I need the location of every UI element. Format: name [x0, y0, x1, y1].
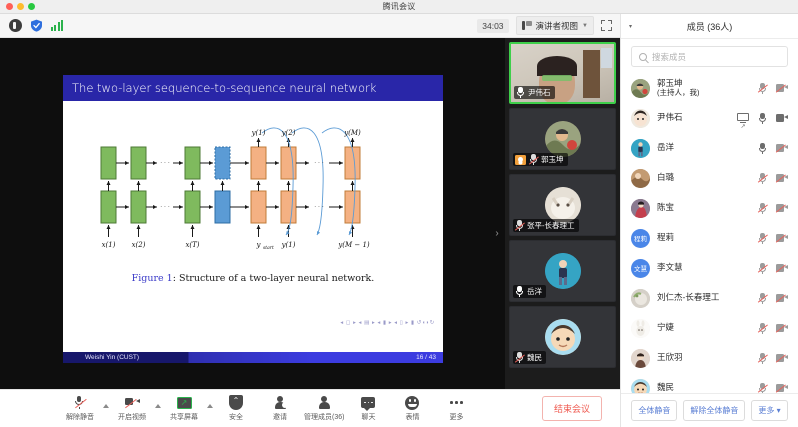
- list-item[interactable]: 刘仁杰-长春理工: [621, 283, 798, 313]
- avatar: [631, 349, 650, 368]
- camera-off-icon: [125, 395, 140, 410]
- avatar: [545, 319, 581, 355]
- person-add-icon: +: [274, 395, 287, 410]
- unmute-label: 解除静音: [66, 412, 94, 422]
- participant-name: 程莉: [657, 233, 751, 243]
- mic-muted-icon: [529, 154, 538, 165]
- start-video-label: 开启视频: [118, 412, 146, 422]
- mic-on-icon: [516, 87, 525, 98]
- more-label: 更多: [449, 412, 463, 422]
- svg-text:x(2): x(2): [132, 241, 146, 249]
- mic-muted-icon[interactable]: [758, 353, 767, 364]
- mic-muted-icon: [75, 395, 86, 410]
- camera-off-icon[interactable]: [776, 234, 788, 243]
- meeting-controls-toolbar: 解除静音 开启视频 共享屏幕 安全 + 邀请: [0, 389, 620, 427]
- mic-muted-icon[interactable]: [758, 323, 767, 334]
- slide-author: Weishi Yin (CUST): [63, 354, 139, 361]
- tencent-meeting-window: 腾讯会议 34:03 演讲者视图 ▼ The two-l: [0, 0, 798, 427]
- tile-name: 张平-长春理工: [527, 220, 575, 231]
- list-item[interactable]: 郭玉坤 (主持人，我): [621, 73, 798, 103]
- mic-muted-icon[interactable]: [758, 263, 767, 274]
- participant-display-name: 白璐: [657, 172, 674, 182]
- panel-footer: 全体静音 解除全体静音 更多 ▾: [621, 393, 798, 427]
- participant-display-name: 魏民: [657, 382, 674, 392]
- camera-off-icon[interactable]: [776, 84, 788, 93]
- video-tile[interactable]: 尹伟石: [509, 42, 616, 104]
- list-item[interactable]: 文慧 李文慧: [621, 253, 798, 283]
- svg-text:y: y: [256, 241, 262, 249]
- neural-network-diagram: x(1) x(2) x(T) y start y(1) y(M − 1) y(1…: [81, 127, 425, 252]
- camera-off-icon[interactable]: [776, 294, 788, 303]
- participant-name: 李文慧: [657, 263, 751, 273]
- avatar: 程莉: [631, 229, 650, 248]
- security-button[interactable]: 安全: [214, 395, 258, 422]
- fullscreen-icon[interactable]: [601, 20, 612, 31]
- search-container: [621, 39, 798, 73]
- more-button[interactable]: 更多: [434, 395, 478, 422]
- svg-text:· · ·: · · ·: [160, 160, 170, 167]
- list-item[interactable]: 尹伟石: [621, 103, 798, 133]
- avatar: 文慧: [631, 259, 650, 278]
- list-item[interactable]: 陈宝: [621, 193, 798, 223]
- mic-muted-icon: [515, 220, 524, 231]
- avatar: [631, 379, 650, 394]
- svg-text:· · ·: · · ·: [160, 204, 170, 211]
- toolbar-left-icons: [0, 19, 64, 33]
- participant-role: (主持人，我): [657, 89, 751, 98]
- participant-name: 王欣羽: [657, 353, 751, 363]
- window-titlebar: 腾讯会议: [0, 0, 798, 14]
- speaker-view-icon: [522, 21, 532, 30]
- view-mode-label: 演讲者视图: [536, 20, 579, 32]
- mic-on-icon[interactable]: [758, 143, 767, 154]
- participant-status-icons: [758, 203, 788, 214]
- figure-label: Figure 1: [132, 273, 173, 284]
- smiley-icon: [405, 395, 419, 410]
- start-video-button[interactable]: 开启视频: [110, 395, 154, 422]
- screen-share-icon[interactable]: [737, 113, 749, 123]
- avatar-initials: 程莉: [634, 233, 647, 243]
- participant-name: 陈宝: [657, 203, 751, 213]
- svg-text:y(2): y(2): [281, 129, 296, 137]
- svg-text:start: start: [263, 245, 274, 251]
- mic-muted-icon: [515, 352, 524, 363]
- share-screen-label: 共享屏幕: [170, 412, 198, 422]
- participant-status-icons: [758, 293, 788, 304]
- tile-label: 尹伟石: [514, 86, 555, 99]
- chat-button[interactable]: 聊天: [346, 395, 390, 422]
- svg-text:x(1): x(1): [102, 241, 116, 249]
- presentation-slide: The two-layer sequence-to-sequence neura…: [63, 75, 443, 363]
- ellipsis-icon: [450, 395, 463, 410]
- slide-body: x(1) x(2) x(T) y start y(1) y(M − 1) y(1…: [63, 101, 443, 346]
- avatar-initials: 文慧: [634, 263, 647, 273]
- list-item[interactable]: 白璐: [621, 163, 798, 193]
- avatar: [631, 169, 650, 188]
- participant-display-name: 尹伟石: [657, 112, 683, 122]
- participant-name: 白璐: [657, 173, 751, 183]
- camera-on-icon[interactable]: [776, 114, 788, 123]
- participant-status-icons: [758, 263, 788, 274]
- svg-text:· · ·: · · ·: [314, 160, 324, 167]
- panel-more-label: 更多: [758, 406, 774, 415]
- end-meeting-button[interactable]: 结束会议: [542, 396, 602, 421]
- list-item[interactable]: 程莉 程莉: [621, 223, 798, 253]
- shared-screen-stage: The two-layer sequence-to-sequence neura…: [0, 38, 505, 389]
- participant-status-icons: [758, 323, 788, 334]
- participant-status-icons: [737, 113, 788, 124]
- participant-status-icons: [758, 173, 788, 184]
- participant-name: 尹伟石: [657, 113, 730, 123]
- participant-display-name: 刘仁杰-长春理工: [657, 292, 719, 302]
- camera-off-icon[interactable]: [776, 324, 788, 333]
- security-label: 安全: [229, 412, 243, 422]
- tile-label: 岳洋: [513, 285, 546, 298]
- svg-text:y(1): y(1): [281, 241, 296, 249]
- reactions-label: 表情: [405, 412, 419, 422]
- video-tile[interactable]: 魏民: [509, 306, 616, 368]
- avatar: [631, 139, 650, 158]
- figure-caption-text: : Structure of a two-layer neural networ…: [173, 273, 375, 284]
- share-options-arrow[interactable]: [207, 404, 213, 408]
- shield-icon: [229, 395, 243, 410]
- video-tile[interactable]: 张平-长春理工: [509, 174, 616, 236]
- tile-label: 张平-长春理工: [513, 219, 579, 232]
- participant-display-name: 陈宝: [657, 202, 674, 212]
- tile-label: 魏民: [513, 351, 546, 364]
- panel-title: 成员 (36人): [621, 20, 798, 33]
- tile-name: 魏民: [527, 352, 542, 363]
- avatar: [631, 289, 650, 308]
- diagram-svg: x(1) x(2) x(T) y start y(1) y(M − 1) y(1…: [81, 127, 425, 252]
- camera-off-icon[interactable]: [776, 144, 788, 153]
- list-item[interactable]: 岳洋: [621, 133, 798, 163]
- participant-status-icons: [758, 83, 788, 94]
- collapse-thumbnails-handle[interactable]: ›: [491, 220, 503, 246]
- camera-off-icon[interactable]: [776, 204, 788, 213]
- avatar: [631, 319, 650, 338]
- tile-name: 岳洋: [527, 286, 542, 297]
- participant-display-name: 程莉: [657, 232, 674, 242]
- participant-status-icons: [758, 353, 788, 364]
- avatar: [545, 187, 581, 223]
- mic-muted-icon[interactable]: [758, 83, 767, 94]
- participants-list[interactable]: 郭玉坤 (主持人，我) 尹伟石: [621, 73, 798, 393]
- participant-name: 魏民: [657, 383, 751, 393]
- search-input[interactable]: [652, 52, 780, 62]
- avatar: [631, 109, 650, 128]
- list-item[interactable]: 宁婕: [621, 313, 798, 343]
- audio-options-arrow[interactable]: [103, 404, 109, 408]
- tile-label: 郭玉坤: [513, 153, 568, 166]
- svg-text:y(M − 1): y(M − 1): [337, 241, 370, 249]
- mic-muted-icon[interactable]: [758, 173, 767, 184]
- mic-muted-icon[interactable]: [758, 203, 767, 214]
- slide-page-number: 16 / 43: [416, 354, 443, 361]
- mic-on-icon: [515, 286, 524, 297]
- participant-name: 宁婕: [657, 323, 751, 333]
- chat-bubble-icon: [361, 395, 375, 410]
- mic-muted-icon[interactable]: [758, 233, 767, 244]
- search-box[interactable]: [631, 46, 788, 67]
- tile-name: 郭玉坤: [541, 154, 564, 165]
- list-item[interactable]: 王欣羽: [621, 343, 798, 373]
- camera-off-icon[interactable]: [776, 354, 788, 363]
- figure-caption: Figure 1: Structure of a two-layer neura…: [63, 273, 443, 284]
- list-item[interactable]: 魏民: [621, 373, 798, 393]
- top-toolbar: 34:03 演讲者视图 ▼: [0, 14, 620, 38]
- unmute-button[interactable]: 解除静音: [58, 395, 102, 422]
- slide-footer: Weishi Yin (CUST) 16 / 43: [63, 352, 443, 363]
- avatar: [545, 121, 581, 157]
- unmute-all-button[interactable]: 解除全体静音: [683, 400, 745, 421]
- svg-text:x(T): x(T): [185, 241, 199, 249]
- video-thumbnail-strip[interactable]: 尹伟石 郭玉坤 张平-长春理工: [505, 38, 620, 389]
- manage-participants-label: 管理成员(36): [304, 412, 344, 422]
- screen-share-icon: [177, 395, 192, 410]
- participant-display-name: 岳洋: [657, 142, 674, 152]
- video-options-arrow[interactable]: [155, 404, 161, 408]
- chat-label: 聊天: [361, 412, 375, 422]
- mic-muted-icon[interactable]: [758, 293, 767, 304]
- person-icon: [318, 395, 331, 410]
- reactions-button[interactable]: 表情: [390, 395, 434, 422]
- participant-name: 岳洋: [657, 143, 751, 153]
- view-mode-selector[interactable]: 演讲者视图 ▼: [516, 16, 594, 35]
- svg-text:y(M): y(M): [343, 129, 361, 137]
- invite-label: 邀请: [273, 412, 287, 422]
- participant-name: 郭玉坤 (主持人，我): [657, 79, 751, 97]
- network-signal-icon[interactable]: [50, 19, 64, 33]
- avatar: [631, 199, 650, 218]
- window-title: 腾讯会议: [0, 1, 798, 12]
- avatar: [545, 253, 581, 289]
- panel-more-button[interactable]: 更多 ▾: [751, 400, 787, 421]
- camera-off-icon[interactable]: [776, 384, 788, 393]
- participant-display-name: 王欣羽: [657, 352, 683, 362]
- participants-panel: ▾ 成员 (36人) 郭玉坤 (主持人，我): [620, 14, 798, 427]
- video-tile[interactable]: 郭玉坤: [509, 108, 616, 170]
- chevron-down-icon: ▼: [582, 23, 588, 29]
- panel-header: ▾ 成员 (36人): [621, 14, 798, 39]
- camera-off-icon[interactable]: [776, 174, 788, 183]
- participant-display-name: 郭玉坤: [657, 78, 683, 88]
- svg-text:· · ·: · · ·: [314, 204, 324, 211]
- participant-name: 刘仁杰-长春理工: [657, 293, 751, 303]
- recording-info-icon[interactable]: [8, 19, 22, 33]
- share-screen-button[interactable]: 共享屏幕: [162, 395, 206, 422]
- invite-button[interactable]: + 邀请: [258, 395, 302, 422]
- participant-display-name: 宁婕: [657, 322, 674, 332]
- search-icon: [639, 53, 647, 61]
- toolbar-right-controls: 34:03 演讲者视图 ▼: [477, 16, 620, 35]
- mic-on-icon[interactable]: [758, 113, 767, 124]
- tile-name: 尹伟石: [528, 87, 551, 98]
- mute-all-button[interactable]: 全体静音: [631, 400, 677, 421]
- meeting-timer: 34:03: [477, 19, 508, 33]
- slide-title: The two-layer sequence-to-sequence neura…: [63, 75, 443, 101]
- host-badge-icon: [515, 155, 526, 165]
- slide-nav-glyphs[interactable]: ◂ ◻ ▸ ◂ ▤ ▸ ◂ ▮ ▸ ◂ ▯ ▸ ▮ ↺◖◗↻: [340, 320, 435, 326]
- participant-display-name: 李文慧: [657, 262, 683, 272]
- svg-text:y(1): y(1): [251, 129, 266, 137]
- participant-status-icons: [758, 143, 788, 154]
- camera-off-icon[interactable]: [776, 264, 788, 273]
- participant-status-icons: [758, 383, 788, 394]
- video-tile[interactable]: 岳洋: [509, 240, 616, 302]
- manage-participants-button[interactable]: 管理成员(36): [302, 395, 346, 422]
- mic-muted-icon[interactable]: [758, 383, 767, 394]
- security-shield-icon[interactable]: [29, 19, 43, 33]
- avatar: [631, 79, 650, 98]
- participant-status-icons: [758, 233, 788, 244]
